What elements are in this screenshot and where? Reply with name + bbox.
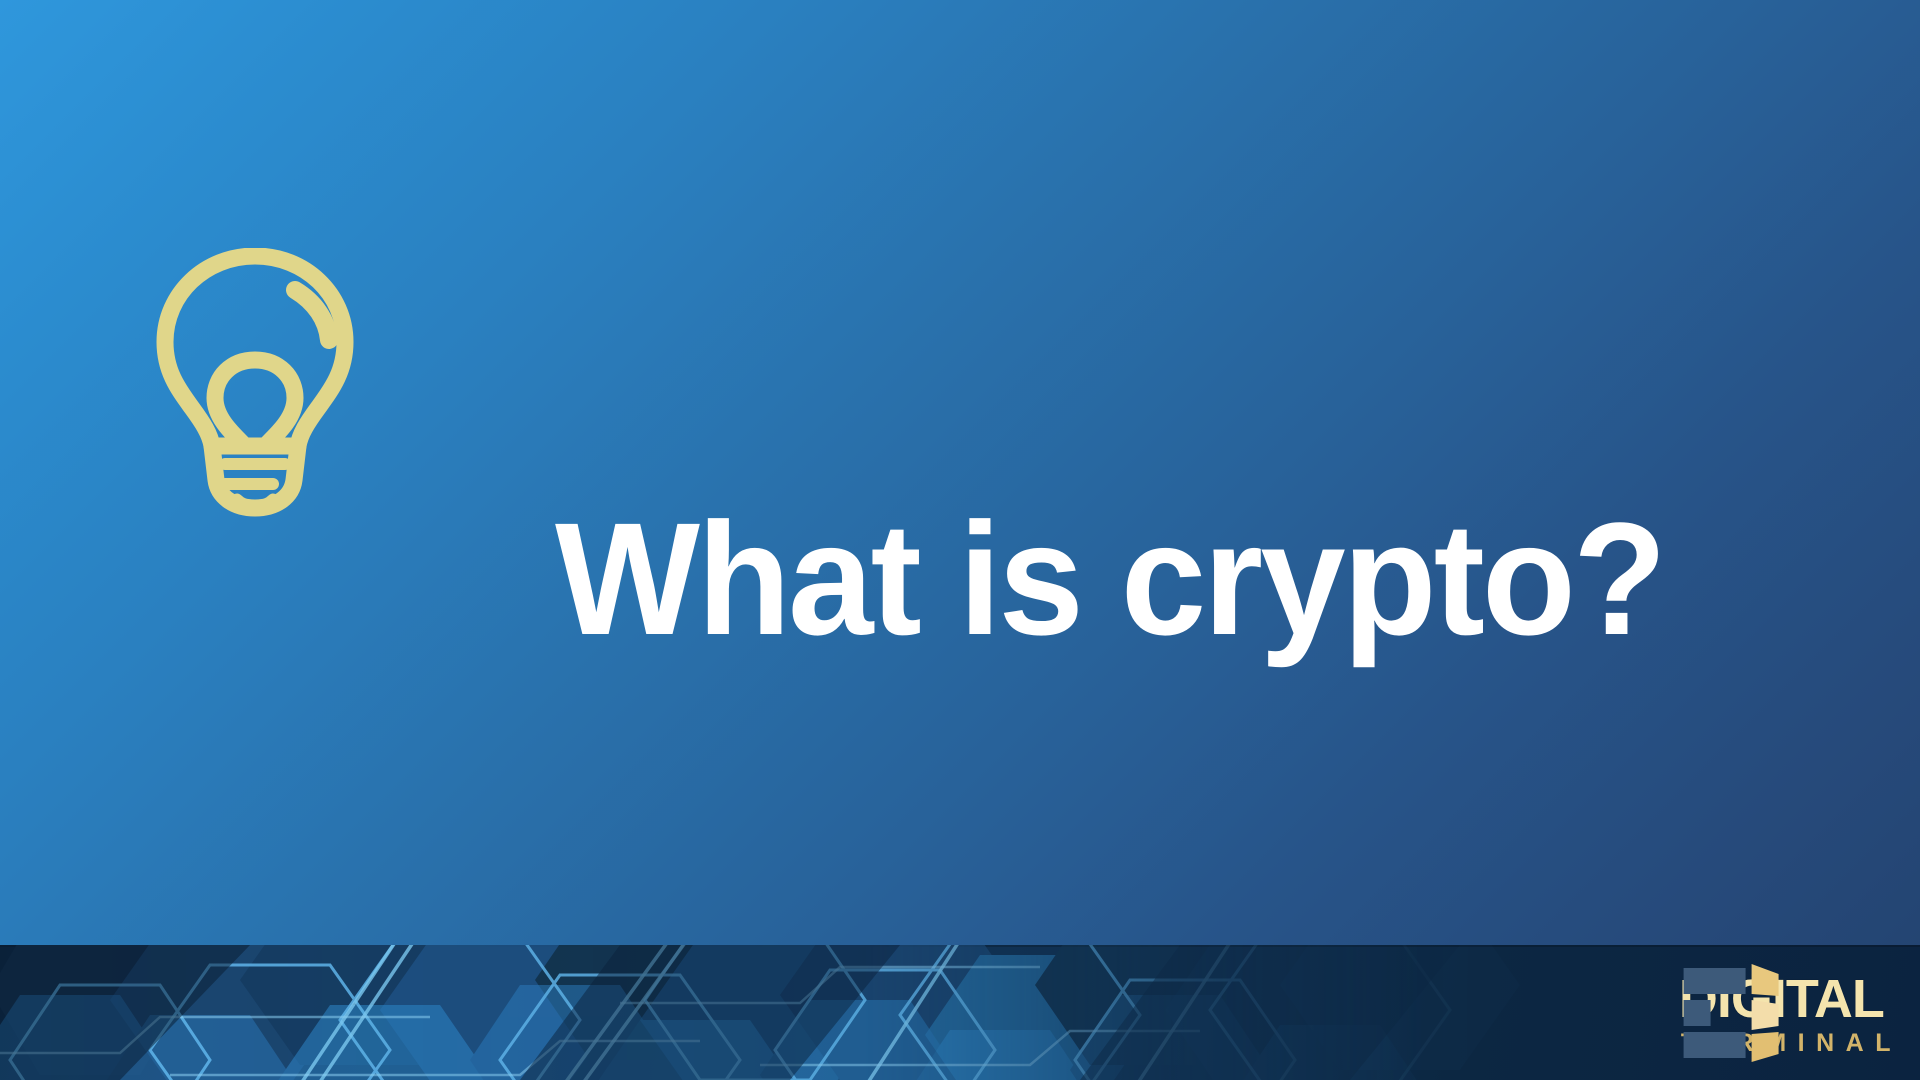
footer-decorative-band: DIGITAL TERMINAL — [0, 945, 1920, 1080]
bulb-glass-outline — [165, 256, 345, 446]
bulb-filament — [215, 360, 295, 446]
slide-root: What is crypto? — [0, 0, 1920, 1080]
lightbulb-icon — [155, 248, 355, 518]
logo-block-top — [1683, 968, 1745, 994]
bulb-base — [212, 446, 298, 508]
logo-gold-middle — [1751, 1000, 1778, 1030]
logo-block-middle — [1683, 1000, 1710, 1026]
page-title: What is crypto? — [555, 499, 1611, 659]
digital-terminal-logo-mark — [1561, 962, 1665, 1066]
brand-logo[interactable]: DIGITAL TERMINAL — [1561, 962, 1902, 1066]
logo-gold-top — [1751, 964, 1778, 996]
logo-block-bottom — [1683, 1032, 1745, 1058]
logo-gold-bottom — [1751, 1032, 1778, 1062]
